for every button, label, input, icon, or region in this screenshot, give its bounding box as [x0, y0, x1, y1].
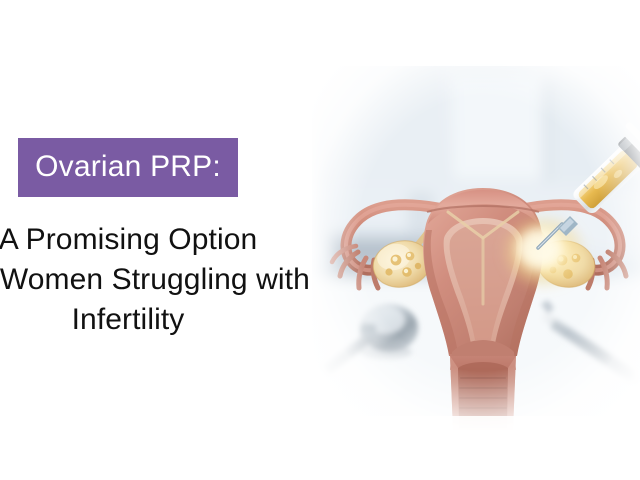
text-panel: Ovarian PRP: A Promising Option For Wome…	[0, 120, 318, 350]
ovarian-prp-injection-illustration	[312, 52, 640, 432]
top-fade	[312, 52, 640, 66]
bottom-fade	[312, 416, 640, 432]
edge-fade	[312, 52, 640, 432]
badge-row: Ovarian PRP:	[0, 138, 318, 197]
poster-canvas: Ovarian PRP: A Promising Option For Wome…	[0, 0, 640, 480]
headline-line-3: Infertility	[0, 300, 318, 340]
title-badge: Ovarian PRP:	[18, 138, 238, 197]
headline-line-1: A Promising Option	[0, 220, 318, 260]
headline-line-2: For Women Struggling with	[0, 260, 318, 300]
page-title: A Promising Option For Women Struggling …	[0, 220, 318, 340]
